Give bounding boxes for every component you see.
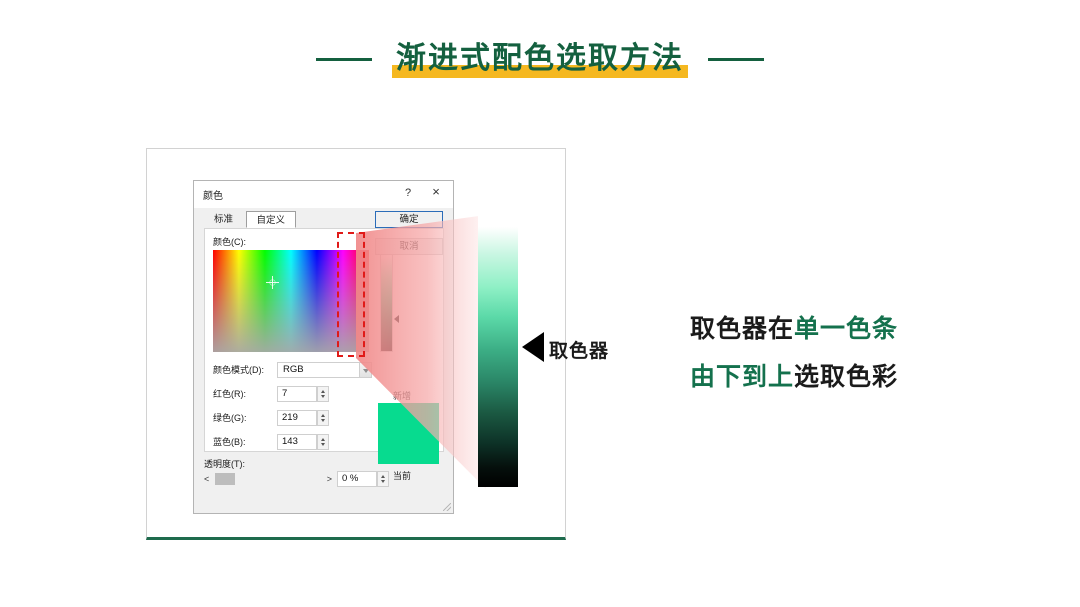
close-icon[interactable]: × xyxy=(429,185,443,199)
slider-left-arrow-icon[interactable]: < xyxy=(204,472,209,486)
caption-line-2: 由下到上选取色彩 xyxy=(690,353,1060,401)
green-input[interactable]: 219 xyxy=(277,410,317,426)
green-label: 绿色(G): xyxy=(213,410,275,426)
red-stepper[interactable] xyxy=(317,386,329,402)
luminance-marker-icon[interactable] xyxy=(394,315,399,323)
transparency-spinner[interactable]: 0 % xyxy=(337,471,389,487)
page-title: 渐进式配色选取方法 xyxy=(396,39,684,79)
resize-grip-icon[interactable] xyxy=(443,503,451,511)
transparency-slider[interactable]: < > xyxy=(204,472,332,486)
preview-new-label: 新增 xyxy=(393,389,411,402)
green-stepper[interactable] xyxy=(317,410,329,426)
color-field-label: 颜色(C): xyxy=(213,235,246,248)
slide-title-row: 渐进式配色选取方法 xyxy=(0,36,1080,82)
eyedropper-label: 取色器 xyxy=(549,336,609,363)
blue-input[interactable]: 143 xyxy=(277,434,317,450)
caption-line2-accent: 由下到上 xyxy=(690,363,794,391)
caption-line1-plain: 取色器在 xyxy=(690,315,794,343)
transparency-label: 透明度(T): xyxy=(204,457,245,470)
dialog-tabs: 标准 自定义 xyxy=(204,211,296,229)
title-wrapper: 渐进式配色选取方法 xyxy=(392,39,688,79)
tab-custom[interactable]: 自定义 xyxy=(246,211,297,228)
preview-current-label: 当前 xyxy=(393,469,411,482)
red-label: 红色(R): xyxy=(213,386,275,402)
color-dialog: 颜色 ? × 标准 自定义 颜色(C): 颜色模式(D): RGB 红色(R):… xyxy=(193,180,454,514)
tab-standard[interactable]: 标准 xyxy=(204,211,243,228)
caption-line-1: 取色器在单一色条 xyxy=(690,305,1060,353)
luminance-bar[interactable] xyxy=(380,250,393,352)
chevron-down-icon[interactable] xyxy=(359,362,372,378)
enlarged-luminance-bar xyxy=(478,213,518,487)
blue-stepper[interactable] xyxy=(317,434,329,450)
dialog-titlebar: 颜色 ? × xyxy=(194,181,453,208)
colormode-label: 颜色模式(D): xyxy=(213,362,275,378)
title-rule-left xyxy=(316,58,372,61)
highlight-dashed-box xyxy=(337,232,365,357)
eyedropper-pointer-icon xyxy=(522,332,544,362)
hue-crosshair-icon xyxy=(268,278,277,287)
explanation-caption: 取色器在单一色条 由下到上选取色彩 xyxy=(690,305,1060,401)
slider-thumb[interactable] xyxy=(215,473,235,485)
slide-canvas: 渐进式配色选取方法 颜色 ? × 标准 自定义 颜色(C): 颜色模式(D): … xyxy=(0,0,1080,607)
cancel-button[interactable]: 取消 xyxy=(375,238,443,255)
slider-right-arrow-icon[interactable]: > xyxy=(327,472,332,486)
caption-line1-accent: 单一色条 xyxy=(794,315,898,343)
colormode-select[interactable]: RGB xyxy=(277,362,370,378)
transparency-input[interactable]: 0 % xyxy=(337,471,377,487)
title-rule-right xyxy=(708,58,764,61)
red-input[interactable]: 7 xyxy=(277,386,317,402)
caption-line2-plain: 选取色彩 xyxy=(794,363,898,391)
help-icon[interactable]: ? xyxy=(401,186,415,200)
preview-color-swatch xyxy=(378,403,439,464)
dialog-caption: 颜色 xyxy=(203,187,223,202)
ok-button[interactable]: 确定 xyxy=(375,211,443,228)
transparency-stepper[interactable] xyxy=(377,471,389,487)
blue-label: 蓝色(B): xyxy=(213,434,275,450)
